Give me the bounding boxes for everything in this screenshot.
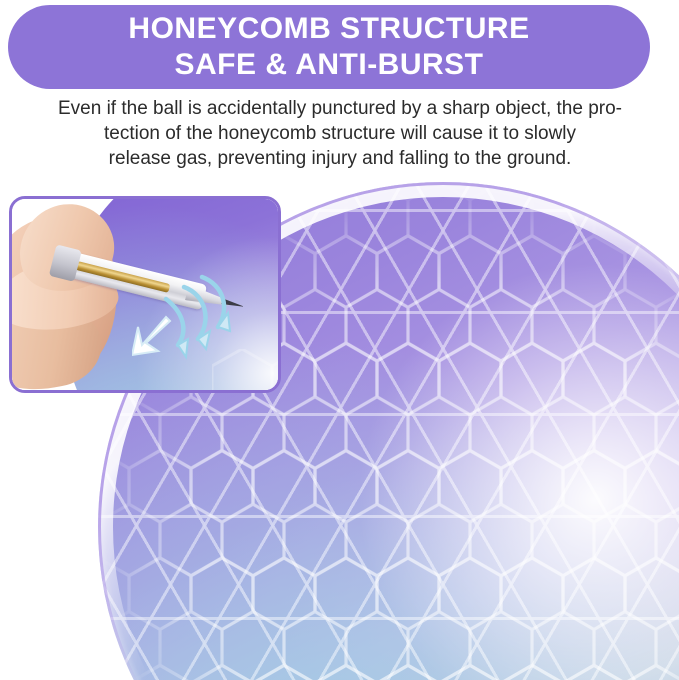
headline-banner: HONEYCOMB STRUCTURE SAFE & ANTI-BURST [8,5,650,89]
knife-blade-track [75,261,170,293]
gas-release-arrows-icon [132,269,242,364]
knife-body [55,249,207,311]
description-line-2: tection of the honeycomb structure will … [22,121,658,146]
hand-index-finger [12,257,121,335]
puncture-demo-card [9,196,281,393]
inset-ball [64,199,278,390]
knife-grip [49,244,82,281]
knife-tip [221,298,244,309]
headline-line-2: SAFE & ANTI-BURST [174,47,483,83]
headline-line-1: HONEYCOMB STRUCTURE [128,11,529,47]
utility-knife-icon [54,245,227,319]
inset-honeycomb-pattern [212,349,278,390]
hand-fingers-lower [12,301,108,390]
hand-palm [12,209,128,386]
description-line-1: Even if the ball is accidentally punctur… [22,96,658,121]
product-infographic: HONEYCOMB STRUCTURE SAFE & ANTI-BURST Ev… [0,0,679,680]
knife-blade [185,285,232,311]
description-paragraph: Even if the ball is accidentally punctur… [22,96,658,171]
hand-thumb [12,199,125,304]
puncture-demo-photo [12,199,278,390]
